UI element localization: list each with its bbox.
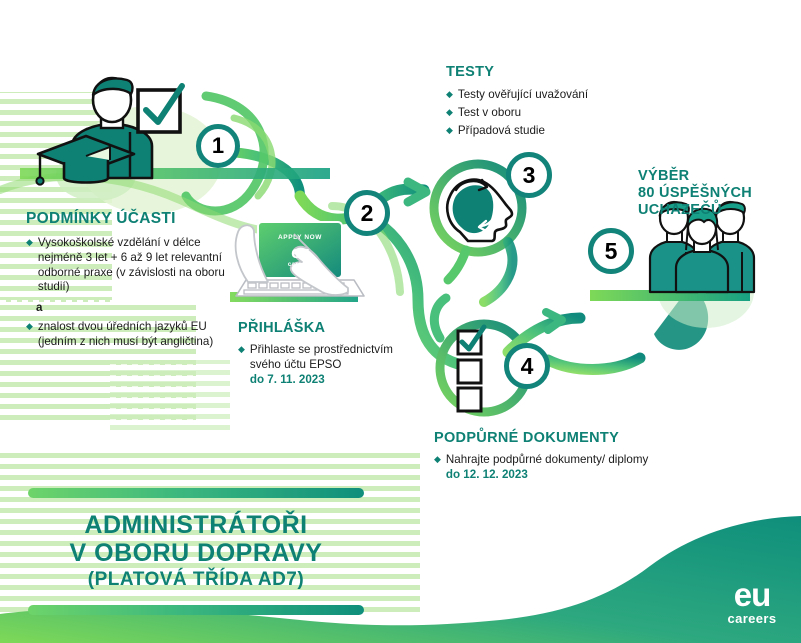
footer-bottom-rule <box>28 605 364 615</box>
step-1-bullet-2-text: znalost dvou úředních jazyků EU (jedním … <box>38 320 236 350</box>
step-4-deadline: do 12. 12. 2023 <box>446 468 528 481</box>
step-5-title-line-3: UCHAZEČŮ <box>638 202 798 219</box>
bullet-diamond-icon: ◆ <box>446 106 453 121</box>
step-number-5-label: 5 <box>605 238 618 265</box>
step-5-title-line-2: 80 ÚSPĚŠNÝCH <box>638 185 798 202</box>
step-2-title: PŘIHLÁŠKA <box>238 320 418 336</box>
infographic-canvas: 1 2 3 4 5 APPLY NOW eu careers PODMÍNKY … <box>0 0 801 643</box>
bullet-diamond-icon: ◆ <box>446 124 453 139</box>
footer-subtitle: (PLATOVÁ TŘÍDA AD7) <box>28 569 364 591</box>
step-5-title-line-1: VÝBĚR <box>638 168 798 185</box>
step-3-bullet-3: ◆ Případová studie <box>446 124 646 139</box>
step-3-bullet-3-text: Případová studie <box>458 124 545 139</box>
bullet-diamond-icon: ◆ <box>446 88 453 103</box>
eu-careers-logo: eu careers <box>716 578 788 625</box>
step-4-bullet-1: ◆ Nahrajte podpůrné dokumenty/ diplomy d… <box>434 453 664 483</box>
step-number-2: 2 <box>344 190 390 236</box>
step-4-title: PODPŮRNÉ DOKUMENTY <box>434 430 664 446</box>
step-2-deadline: do 7. 11. 2023 <box>250 373 325 386</box>
step-number-4: 4 <box>504 343 550 389</box>
step-2-bullet-1: ◆ Přihlaste se prostřednictvím svého účt… <box>238 343 418 387</box>
footer-top-rule <box>28 488 364 498</box>
step-3-bullet-1: ◆ Testy ověřující uvažování <box>446 88 646 103</box>
step-number-1: 1 <box>196 124 240 168</box>
step-1-title: PODMÍNKY ÚČASTI <box>26 210 236 228</box>
step-number-3-label: 3 <box>523 162 536 189</box>
step-3-title: TESTY <box>446 64 646 80</box>
step-4-bullet-1-text: Nahrajte podpůrné dokumenty/ diplomy <box>446 453 648 466</box>
step-number-2-label: 2 <box>361 200 374 227</box>
step-3-bullet-2-text: Test v oboru <box>458 106 521 121</box>
checklist-icon <box>458 327 484 411</box>
step-1-text-block: PODMÍNKY ÚČASTI ◆ Vysokoškolské vzdělání… <box>26 210 236 350</box>
step-1-bullet-2: ◆ znalost dvou úředních jazyků EU (jední… <box>26 320 236 350</box>
step-2-bullet-1-text: Přihlaste se prostřednictvím svého účtu … <box>250 343 393 371</box>
bullet-diamond-icon: ◆ <box>434 453 441 483</box>
careers-logo-text: careers <box>716 612 788 625</box>
step-number-3: 3 <box>506 152 552 198</box>
bullet-diamond-icon: ◆ <box>26 320 33 350</box>
laptop-careers-logo-text: careers <box>288 262 312 268</box>
eu-logo-text: eu <box>716 578 788 611</box>
step-2-text-block: PŘIHLÁŠKA ◆ Přihlaste se prostřednictvím… <box>238 320 418 387</box>
footer-title-line-1: ADMINISTRÁTOŘI <box>28 512 364 540</box>
bullet-diamond-icon: ◆ <box>26 236 33 295</box>
step-number-4-label: 4 <box>521 353 534 380</box>
step-3-text-block: TESTY ◆ Testy ověřující uvažování ◆ Test… <box>446 64 646 138</box>
step-1-bullet-1: ◆ Vysokoškolské vzdělání v délce nejméně… <box>26 236 236 295</box>
step-1-bullet-1-text: Vysokoškolské vzdělání v délce nejméně 3… <box>38 236 236 295</box>
bullet-diamond-icon: ◆ <box>238 343 245 387</box>
step-number-1-label: 1 <box>212 133 224 159</box>
step-3-bullet-1-text: Testy ověřující uvažování <box>458 88 588 103</box>
step-4-text-block: PODPŮRNÉ DOKUMENTY ◆ Nahrajte podpůrné d… <box>434 430 664 483</box>
step-5-text-block: VÝBĚR 80 ÚSPĚŠNÝCH UCHAZEČŮ <box>638 168 798 219</box>
step-3-bullet-2: ◆ Test v oboru <box>446 106 646 121</box>
laptop-eu-logo-text: eu <box>288 244 312 261</box>
footer-title-line-2: V OBORU DOPRAVY <box>28 540 364 568</box>
step-number-5: 5 <box>588 228 634 274</box>
apply-now-label: APPLY NOW <box>278 234 322 241</box>
laptop-screen-content: APPLY NOW eu careers <box>258 228 342 274</box>
step-1-connector: a <box>36 301 236 316</box>
footer-title-block: ADMINISTRÁTOŘI V OBORU DOPRAVY (PLATOVÁ … <box>28 488 364 615</box>
